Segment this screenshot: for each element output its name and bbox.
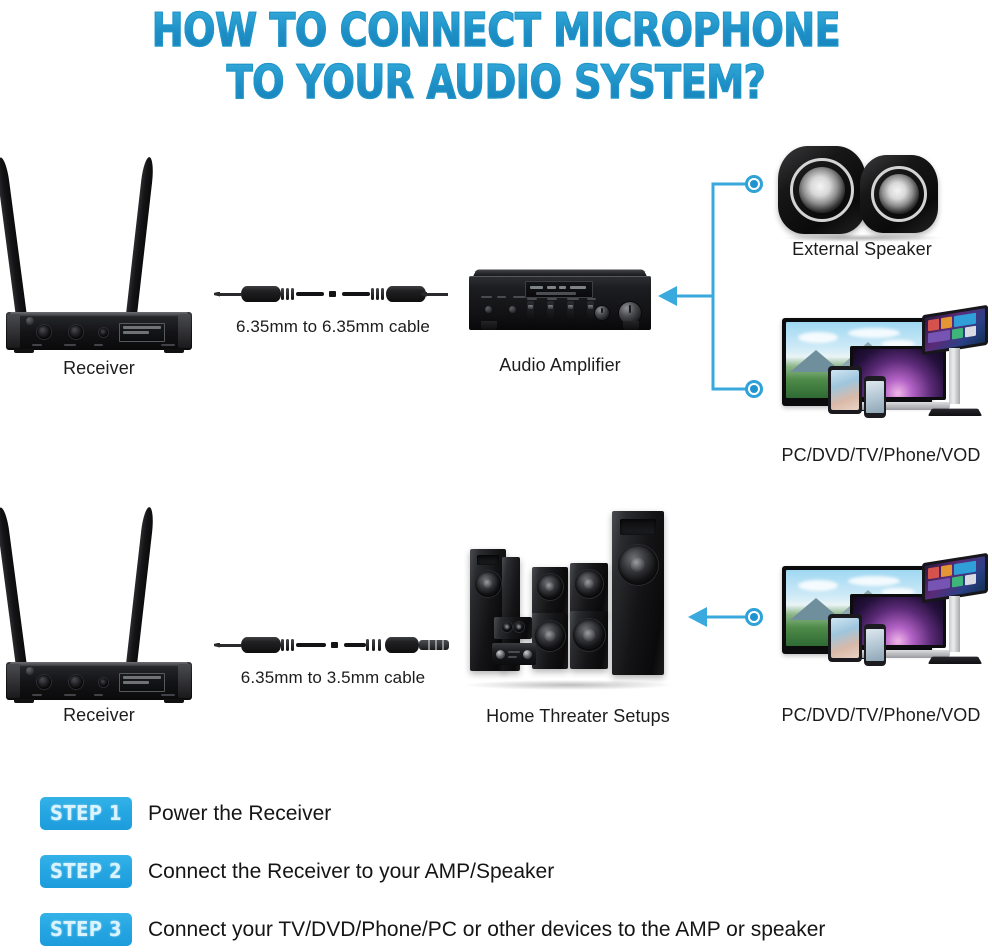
receiver-jack-3: [99, 328, 108, 337]
ht-receiver-unit: [492, 643, 536, 665]
kiosk-pole-row1: [949, 348, 960, 404]
kiosk-monitor-row1: [922, 310, 988, 418]
speaker-right: [860, 155, 938, 233]
amplifier-slider-1: [527, 301, 534, 321]
receiver-ear-right: [178, 664, 191, 698]
amplifier-slider-2: [547, 301, 554, 321]
page-title: HOW TO CONNECT MICROPHONE TO YOUR AUDIO …: [0, 4, 992, 108]
ht-speaker-mid-a-driver: [537, 574, 563, 600]
cable1-ring-b: [286, 288, 289, 300]
cable1-ring-f: [381, 288, 384, 300]
antenna-right-icon: [124, 507, 155, 683]
label-home-theater: Home Threater Setups: [452, 706, 704, 727]
receiver-display: [119, 323, 165, 342]
connector-dot-devices-row1-core: [750, 385, 758, 393]
receiver-foot-right: [164, 349, 184, 353]
connector-lines-row1: [655, 160, 775, 400]
receiver-ear-left: [7, 664, 20, 698]
amplifier-slider-3: [567, 301, 574, 321]
step-text-3: Connect your TV/DVD/Phone/PC or other de…: [148, 918, 825, 942]
receiver-knob: [26, 667, 34, 675]
kiosk-base-row1: [928, 409, 982, 416]
receiver-jack-1: [37, 675, 51, 689]
cable2-tip-left: [219, 644, 241, 647]
tablet-device-row2: [828, 614, 862, 662]
ht-speaker-low-a-driver: [535, 621, 565, 651]
cable1-gap-marker: [329, 291, 336, 297]
connector-arrow-row2: [688, 607, 707, 627]
cable2-wire-left: [296, 643, 326, 647]
receiver-tick-2: [64, 344, 76, 346]
step-row-2: STEP 2 Connect the Receiver to your AMP/…: [40, 855, 554, 888]
label-devices-row2: PC/DVD/TV/Phone/VOD: [736, 705, 992, 726]
ht-center-channel: [494, 617, 532, 639]
receiver-tick-3: [94, 694, 103, 696]
receiver-ear-right: [178, 314, 191, 348]
speaker-left-cone: [799, 167, 845, 213]
ht-speaker-mid-b: [570, 563, 608, 615]
receiver-display: [119, 673, 165, 692]
amplifier-display: [525, 281, 593, 298]
cable1-barrel-left: [241, 286, 281, 302]
kiosk-monitor-row2: [922, 558, 988, 666]
home-theater-device: [462, 505, 678, 685]
connector-arrow-row1: [658, 286, 677, 306]
ht-tower-left-port: [477, 555, 499, 565]
tablet-device-row1: [828, 366, 862, 414]
ht-speaker-mid-b-driver: [575, 570, 603, 598]
ht-tower-right-port: [620, 519, 656, 535]
step-badge-2[interactable]: STEP 2: [40, 855, 132, 888]
cable1-wire-left: [296, 292, 324, 296]
receiver-top-edge: [10, 662, 188, 666]
receiver-jack-1: [37, 325, 51, 339]
connector-dot-devices-row2-core: [750, 613, 758, 621]
speaker-left: [778, 146, 866, 234]
receiver-ear-left: [7, 314, 20, 348]
amplifier-foot-right: [623, 321, 639, 330]
cable2-barrel-left: [241, 637, 281, 653]
cable1-ring-c: [291, 288, 294, 300]
device-cluster-row2: [772, 556, 988, 672]
cable2-ring-e: [372, 639, 375, 651]
amplifier-button-2: [509, 306, 516, 313]
kiosk-base-row2: [928, 657, 982, 664]
title-line-2: TO YOUR AUDIO SYSTEM?: [40, 56, 953, 108]
cable1-ring-d: [371, 288, 374, 300]
ht-speaker-low-b: [570, 611, 608, 669]
cable2-ring-a: [281, 639, 284, 651]
ht-shadow: [466, 680, 672, 690]
audio-amplifier-device: [469, 268, 651, 338]
label-receiver-row1: Receiver: [6, 358, 192, 379]
receiver-tick-2: [64, 694, 76, 696]
cable2-wire-right: [344, 643, 366, 647]
cable2-ring-b: [286, 639, 289, 651]
cable1-barrel-right: [386, 286, 426, 302]
cable1-wire-right: [342, 292, 370, 296]
receiver-device-row1: [6, 150, 192, 350]
cable-635-to-35: [213, 632, 453, 658]
cable1-tip-left: [219, 293, 241, 296]
step-text-1: Power the Receiver: [148, 802, 331, 826]
ht-speaker-mid-a: [532, 567, 568, 615]
connector-path-row1: [713, 184, 754, 389]
ht-speaker-low-b-driver: [573, 619, 605, 651]
receiver-tick-4: [161, 344, 175, 346]
cable2-ring-f: [378, 639, 381, 651]
cable1-ring-e: [376, 288, 379, 300]
antenna-right-icon: [124, 157, 155, 333]
amplifier-face: [469, 276, 651, 330]
receiver-tick-1: [32, 344, 42, 346]
connector-dot-speaker-core: [750, 180, 758, 188]
ht-tower-right-driver: [618, 545, 658, 585]
cable1-ring-a: [281, 288, 284, 300]
infographic-canvas: HOW TO CONNECT MICROPHONE TO YOUR AUDIO …: [0, 0, 992, 952]
external-speaker-device: [778, 146, 948, 238]
cable2-barrel-right: [385, 637, 419, 653]
ht-tower-left-driver: [475, 571, 501, 597]
amplifier-foot-left: [481, 321, 497, 330]
label-external-speaker: External Speaker: [748, 239, 976, 260]
label-cable-row1: 6.35mm to 6.35mm cable: [203, 317, 463, 337]
amplifier-button-1: [485, 306, 492, 313]
receiver-tick-1: [32, 694, 42, 696]
receiver-jack-2: [69, 325, 83, 339]
phone-device-row1: [864, 376, 886, 418]
label-cable-row2: 6.35mm to 3.5mm cable: [203, 668, 463, 688]
cable2-gap-marker: [331, 642, 338, 648]
label-amplifier-row1: Audio Amplifier: [459, 355, 661, 376]
receiver-tick-3: [94, 344, 103, 346]
antenna-left-icon: [0, 157, 29, 333]
cable2-ring-c: [291, 639, 294, 651]
receiver-device-row2: [6, 500, 192, 700]
receiver-body: [6, 312, 192, 350]
kiosk-pole-row2: [949, 596, 960, 652]
step-badge-3[interactable]: STEP 3: [40, 913, 132, 946]
receiver-knob: [26, 317, 34, 325]
receiver-top-edge: [10, 312, 188, 316]
receiver-foot-right: [164, 699, 184, 703]
label-receiver-row2: Receiver: [6, 705, 192, 726]
cable2-trs-plug: [419, 640, 449, 650]
receiver-foot-left: [14, 699, 34, 703]
step-row-3: STEP 3 Connect your TV/DVD/Phone/PC or o…: [40, 913, 825, 946]
connector-lines-row2: [685, 600, 775, 640]
cable2-ring-d: [366, 639, 369, 651]
antenna-left-icon: [0, 507, 29, 683]
receiver-body: [6, 662, 192, 700]
step-row-1: STEP 1 Power the Receiver: [40, 797, 331, 830]
amplifier-knob-small: [595, 306, 609, 320]
ht-tower-right: [612, 511, 664, 675]
label-devices-row1: PC/DVD/TV/Phone/VOD: [736, 445, 992, 466]
cable1-tip-right: [426, 293, 448, 296]
step-badge-1[interactable]: STEP 1: [40, 797, 132, 830]
step-text-2: Connect the Receiver to your AMP/Speaker: [148, 860, 554, 884]
cable-635-to-635: [213, 281, 453, 307]
receiver-jack-3: [99, 678, 108, 687]
amplifier-slider-4: [587, 301, 594, 321]
phone-device-row2: [864, 624, 886, 666]
device-cluster-row1: [772, 308, 988, 424]
receiver-jack-2: [69, 675, 83, 689]
title-line-1: HOW TO CONNECT MICROPHONE: [40, 4, 953, 56]
receiver-tick-4: [161, 694, 175, 696]
ht-speaker-low-a: [532, 613, 568, 669]
receiver-foot-left: [14, 349, 34, 353]
speaker-right-cone: [879, 174, 919, 214]
